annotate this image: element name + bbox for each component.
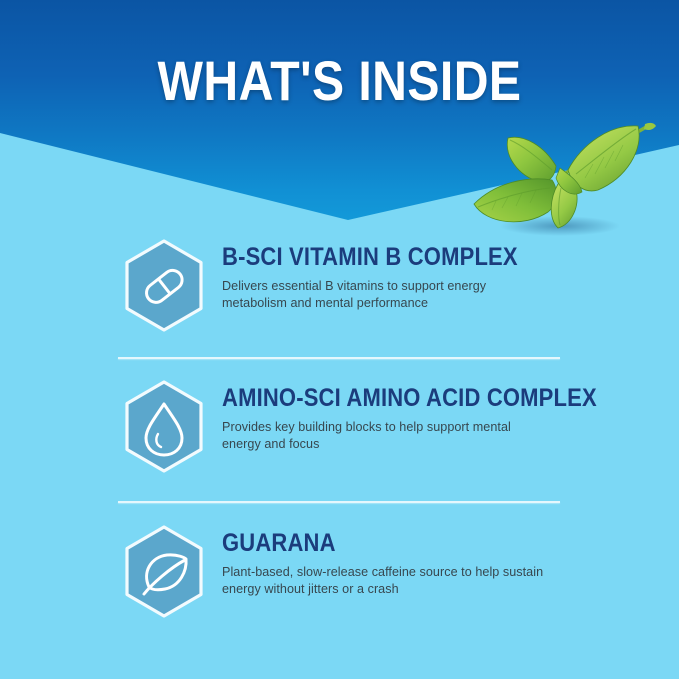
section-divider [118, 501, 560, 503]
ingredient-description: Delivers essential B vitamins to support… [222, 278, 522, 311]
pill-capsule-icon [122, 238, 206, 333]
section-divider [118, 357, 560, 359]
ingredient-icon-badge [122, 379, 206, 474]
ingredient-description: Provides key building blocks to help sup… [222, 419, 522, 452]
ingredient-title: B-SCI VITAMIN B COMPLEX [222, 243, 592, 271]
ingredient-title: AMINO-SCI AMINO ACID COMPLEX [222, 384, 592, 412]
ingredient-icon-badge [122, 238, 206, 333]
whats-inside-panel: WHAT'S INSIDE [0, 0, 679, 679]
ingredient-title: GUARANA [222, 529, 592, 557]
ingredient-text: GUARANA Plant-based, slow-release caffei… [222, 529, 642, 597]
ingredient-row-amino-acid: AMINO-SCI AMINO ACID COMPLEX Provides ke… [0, 379, 679, 479]
ingredient-row-guarana: GUARANA Plant-based, slow-release caffei… [0, 524, 679, 624]
ingredient-text: AMINO-SCI AMINO ACID COMPLEX Provides ke… [222, 384, 642, 452]
ingredient-description: Plant-based, slow-release caffeine sourc… [222, 564, 567, 597]
ingredient-text: B-SCI VITAMIN B COMPLEX Delivers essenti… [222, 243, 642, 311]
header-banner: WHAT'S INSIDE [0, 0, 679, 222]
leaf-icon [122, 524, 206, 619]
water-droplet-icon [122, 379, 206, 474]
ingredient-row-vitamin-b: B-SCI VITAMIN B COMPLEX Delivers essenti… [0, 238, 679, 338]
page-title: WHAT'S INSIDE [48, 52, 632, 110]
ingredients-list: B-SCI VITAMIN B COMPLEX Delivers essenti… [0, 222, 679, 679]
ingredient-icon-badge [122, 524, 206, 619]
